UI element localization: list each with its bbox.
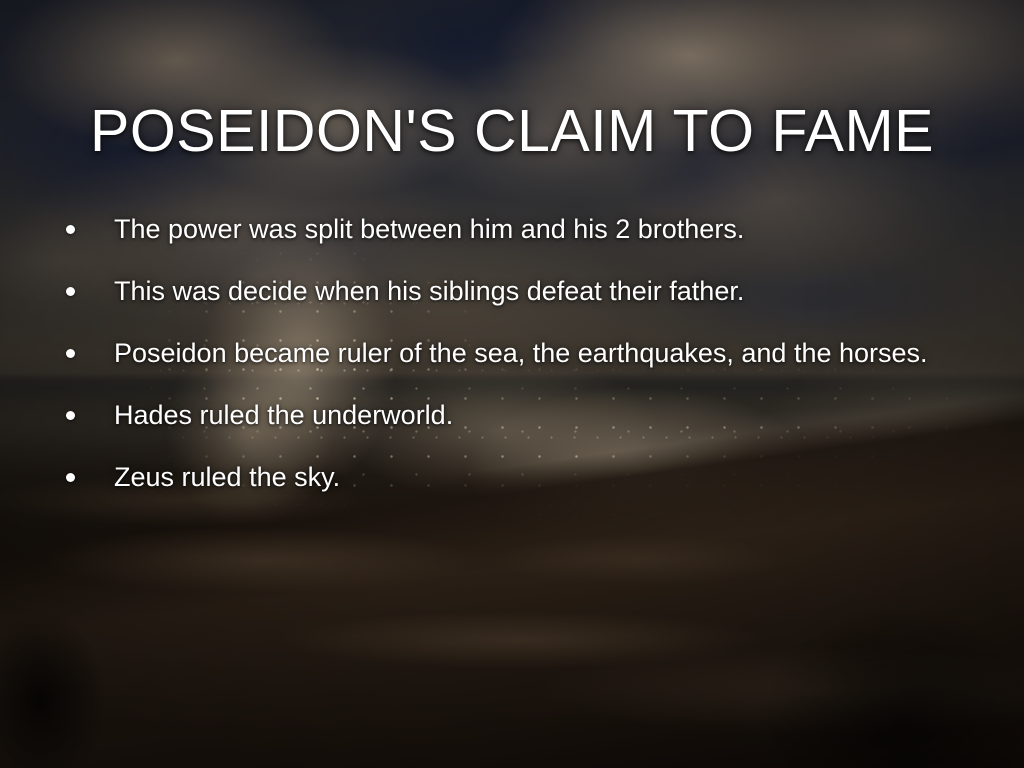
bullet-list: The power was split between him and his … <box>62 198 1002 508</box>
list-item: Poseidon became ruler of the sea, the ea… <box>62 322 1002 384</box>
slide-content: POSEIDON'S CLAIM TO FAME The power was s… <box>0 0 1024 768</box>
list-item-label: Zeus ruled the sky. <box>114 461 340 493</box>
bullet-dot-icon <box>66 287 75 296</box>
presentation-slide: POSEIDON'S CLAIM TO FAME The power was s… <box>0 0 1024 768</box>
list-item: Zeus ruled the sky. <box>62 446 1002 508</box>
list-item: Hades ruled the underworld. <box>62 384 1002 446</box>
list-item: The power was split between him and his … <box>62 198 1002 260</box>
list-item-label: Hades ruled the underworld. <box>114 399 453 431</box>
list-item-label: Poseidon became ruler of the sea, the ea… <box>114 337 928 369</box>
slide-title: POSEIDON'S CLAIM TO FAME <box>0 102 1024 161</box>
list-item: This was decide when his siblings defeat… <box>62 260 1002 322</box>
bullet-dot-icon <box>66 225 75 234</box>
bullet-dot-icon <box>66 411 75 420</box>
bullet-dot-icon <box>66 349 75 358</box>
bullet-dot-icon <box>66 473 75 482</box>
list-item-label: This was decide when his siblings defeat… <box>114 275 744 307</box>
list-item-label: The power was split between him and his … <box>114 213 744 245</box>
